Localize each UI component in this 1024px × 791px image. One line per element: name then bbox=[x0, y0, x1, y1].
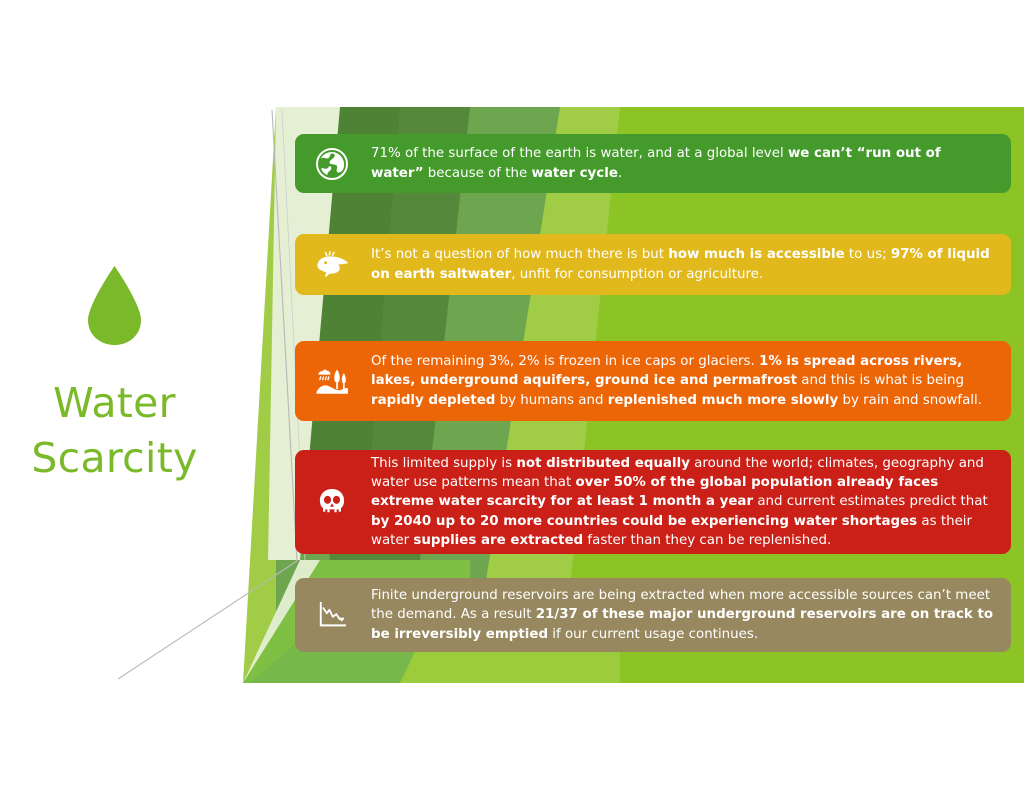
content-bar-reservoirs[interactable]: Finite underground reservoirs are being … bbox=[295, 578, 1011, 652]
whale-icon bbox=[309, 242, 355, 288]
water-drop-icon bbox=[12, 258, 217, 348]
page-title: Water Scarcity bbox=[12, 376, 217, 485]
bar-text: Finite underground reservoirs are being … bbox=[371, 586, 997, 644]
content-bar-freshwater-distribution[interactable]: Of the remaining 3%, 2% is frozen in ice… bbox=[295, 341, 1011, 421]
skull-icon bbox=[309, 479, 355, 525]
bar-text: It’s not a question of how much there is… bbox=[371, 245, 997, 284]
title-line-1: Water bbox=[53, 379, 176, 427]
slide-canvas: Water Scarcity 71% of the surface of the… bbox=[0, 0, 1024, 791]
content-bar-accessibility[interactable]: It’s not a question of how much there is… bbox=[295, 234, 1011, 295]
globe-earth-icon bbox=[309, 141, 355, 187]
content-bar-unequal-distribution[interactable]: This limited supply is not distributed e… bbox=[295, 450, 1011, 554]
content-bar-earth-water[interactable]: 71% of the surface of the earth is water… bbox=[295, 134, 1011, 193]
title-line-2: Scarcity bbox=[12, 431, 217, 486]
bar-text: This limited supply is not distributed e… bbox=[371, 454, 997, 549]
declining-chart-icon bbox=[309, 592, 355, 638]
landscape-rain-tree-icon bbox=[309, 358, 355, 404]
bar-text: Of the remaining 3%, 2% is frozen in ice… bbox=[371, 352, 997, 410]
bar-text: 71% of the surface of the earth is water… bbox=[371, 144, 997, 183]
title-block: Water Scarcity bbox=[12, 258, 217, 485]
